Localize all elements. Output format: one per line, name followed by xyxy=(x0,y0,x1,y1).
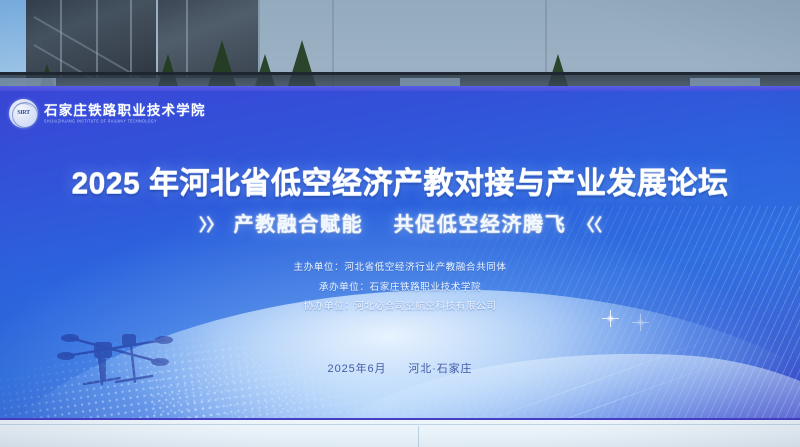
banner-top-edge xyxy=(0,86,800,91)
banner-place: 河北·石家庄 xyxy=(408,363,472,375)
banner-main-title: 2025 年河北省低空经济产教对接与产业发展论坛 xyxy=(0,158,800,202)
banner-date-place: 2025年6月 河北·石家庄 xyxy=(0,360,800,376)
organizer-list: 主办单位：河北省低空经济行业产教融合共同体 承办单位：石家庄铁路职业技术学院 协… xyxy=(0,258,800,317)
conference-banner: SIRT 石家庄铁路职业技术学院 SHIJIAZHUANG INSTITUTE … xyxy=(0,86,800,422)
photo-scene: SIRT 石家庄铁路职业技术学院 SHIJIAZHUANG INSTITUTE … xyxy=(0,0,800,447)
floor-top-line xyxy=(0,424,800,425)
wall-panel-seam xyxy=(545,0,547,72)
organizer-line-coorganize: 协办单位：河北必合司空航空科技有限公司 xyxy=(0,297,800,317)
banner-subtitle: 〉〉 产教融合赋能 共促低空经济腾飞 〈〈 xyxy=(0,208,800,237)
seal-mark: SIRT xyxy=(14,110,33,117)
banner-date: 2025年6月 xyxy=(328,363,387,375)
sparkle-icon xyxy=(636,318,645,327)
organizer-line-host: 主办单位：河北省低空经济行业产教融合共同体 xyxy=(0,258,800,278)
subtitle-right-chevron: 〈〈 xyxy=(574,216,606,236)
organizer-line-undertake: 承办单位：石家庄铁路职业技术学院 xyxy=(0,278,800,298)
window-mullion xyxy=(186,0,188,78)
railing-top-rail xyxy=(0,72,800,75)
window-mullion xyxy=(130,0,132,78)
school-logo-text: 石家庄铁路职业技术学院 SHIJIAZHUANG INSTITUTE OF RA… xyxy=(44,103,206,124)
school-seal-icon: SIRT xyxy=(9,99,38,128)
window-mullion xyxy=(96,0,98,78)
seal-arc xyxy=(14,103,33,110)
subtitle-part-2: 共促低空经济腾飞 xyxy=(394,214,567,236)
floor-seam xyxy=(418,426,419,447)
subtitle-part-1: 产教融合赋能 xyxy=(234,214,364,236)
school-logo: SIRT 石家庄铁路职业技术学院 SHIJIAZHUANG INSTITUTE … xyxy=(9,99,206,128)
subtitle-left-chevron: 〉〉 xyxy=(195,216,227,236)
school-name-en: SHIJIAZHUANG INSTITUTE OF RAILWAY TECHNO… xyxy=(44,118,206,125)
school-name-cn: 石家庄铁路职业技术学院 xyxy=(44,103,206,118)
window-mullion xyxy=(60,0,62,78)
